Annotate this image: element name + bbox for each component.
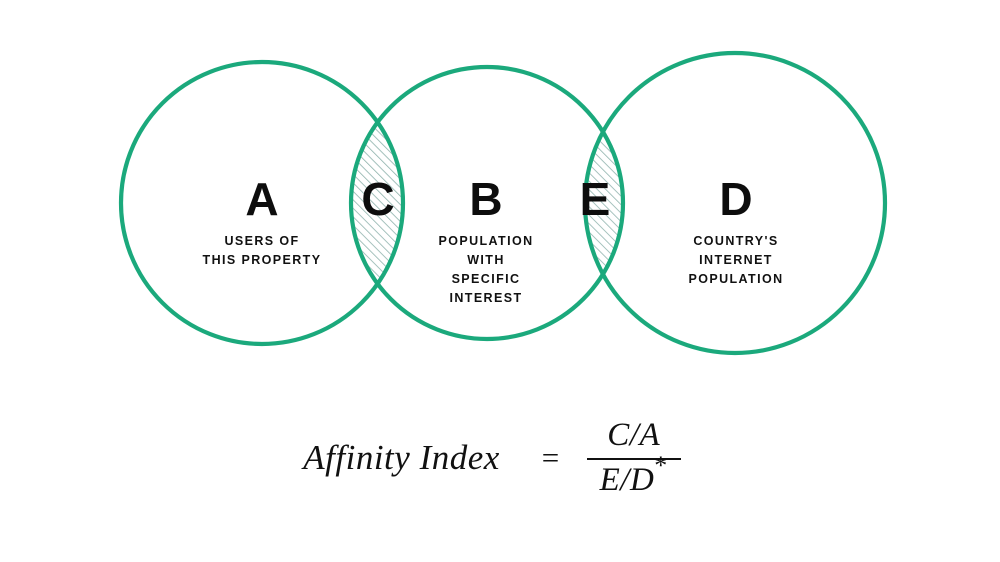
affinity-index-formula: Affinity Index = C/A E/D*: [0, 398, 1000, 518]
formula-title: Affinity Index: [303, 438, 500, 478]
formula-footnote-asterisk: *: [654, 451, 668, 480]
lens-e-fill: [540, 20, 720, 400]
formula-denominator-row: E/D*: [594, 462, 674, 499]
circle-d-outline: [585, 53, 885, 353]
formula-fraction: C/A E/D*: [587, 417, 681, 499]
formula-numerator: C/A: [601, 417, 666, 454]
formula-equals-sign: =: [540, 440, 561, 476]
formula-denominator: E/D: [600, 462, 655, 498]
diagram-canvas: A USERS OF THIS PROPERTY C B POPULATION …: [0, 0, 1000, 562]
